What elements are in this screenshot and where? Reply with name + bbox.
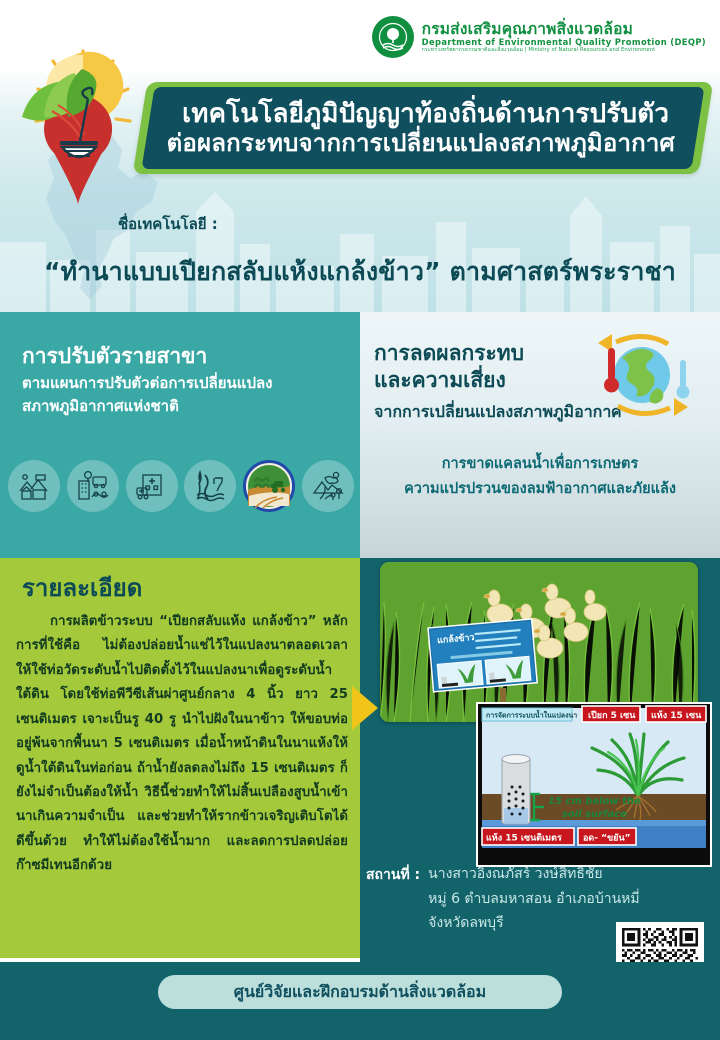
technology-name: “ทำนาแบบเปียกสลับแห้งแกล้งข้าว” ตามศาสตร… [0, 252, 720, 292]
mitigation-heading-line2: และความเสี่ยง [374, 368, 506, 392]
globe-thermometer-icon [582, 330, 702, 422]
mitigation-panel: การลดผลกระทบ และความเสี่ยง จากการเปลี่ยน… [360, 312, 720, 558]
awd-water-level-diagram: การจัดการระบบน้ำในแปลงนา เปียก 5 เซน แห้… [476, 702, 712, 867]
org-name-th: กรมส่งเสริมคุณภาพสิ่งแวดล้อม [422, 21, 706, 37]
sector-item-tourism[interactable] [65, 460, 121, 512]
place-label: สถานที่ : [366, 862, 420, 936]
lightbulb-leaf-pin-icon [8, 45, 148, 205]
sector-panel-subheading: ตามแผนการปรับตัวต่อการเปลี่ยนแปลง สภาพภู… [22, 372, 352, 419]
sector-panel-heading: การปรับตัวรายสาขา [22, 340, 207, 373]
svg-text:แห้ง 15 เซน: แห้ง 15 เซน [651, 710, 702, 721]
place-line-3: จังหวัดลพบุรี [428, 911, 639, 936]
poster-title-line2: ต่อผลกระทบจากการเปลี่ยนแปลงสภาพภูมิอากาศ [166, 129, 674, 157]
svg-text:15 cm below the: 15 cm below the [548, 796, 641, 807]
sector-item-natural-resources[interactable] [300, 460, 356, 512]
sector-item-settlement[interactable] [6, 460, 62, 512]
settlement-icon [8, 460, 60, 512]
sector-item-water[interactable] [182, 460, 238, 512]
place-value: นางสาวอิงณภัสร์ วงษ์สิทธิชัย หมู่ 6 ตำบล… [428, 862, 639, 936]
sector-sub-line2: สภาพภูมิอากาศแห่งชาติ [22, 397, 179, 415]
title-ribbon: เทคโนโลยีภูมิปัญญาท้องถิ่นด้านการปรับตัว… [133, 82, 714, 174]
detail-title: รายละเอียด [22, 568, 142, 607]
svg-text:แห้ง 15 เซนติเมตร: แห้ง 15 เซนติเมตร [486, 833, 562, 844]
detail-body: การผลิตข้าวระบบ “เปียกสลับแห้ง แกล้งข้าว… [16, 610, 348, 879]
place-line-2: หมู่ 6 ตำบลมหาสอน อำเภอบ้านหมี่ [428, 887, 639, 912]
risk-item-2: ความแปรปรวนของลมฟ้าอากาศและภัยแล้ง [360, 477, 720, 502]
sector-sub-line1: ตามแผนการปรับตัวต่อการเปลี่ยนแปลง [22, 374, 273, 392]
technology-label: ชื่อเทคโนโลยี : [118, 212, 218, 236]
health-icon [126, 460, 178, 512]
water-mgmt-icon [184, 460, 236, 512]
mitigation-heading: การลดผลกระทบ และความเสี่ยง [374, 340, 524, 395]
place-line-1: นางสาวอิงณภัสร์ วงษ์สิทธิชัย [428, 862, 639, 887]
footer-pill: ศูนย์วิจัยและฝึกอบรมด้านสิ่งแวดล้อม [158, 975, 562, 1009]
detail-section: รายละเอียด การผลิตข้าวระบบ “เปียกสลับแห้… [0, 558, 360, 958]
org-name-en: Department of Environmental Quality Prom… [422, 38, 706, 47]
sector-item-health[interactable] [124, 460, 180, 512]
rice-field-ducks-photo: แกล้งข้าว [380, 562, 698, 722]
poster-title-line1: เทคโนโลยีภูมิปัญญาท้องถิ่นด้านการปรับตัว [182, 99, 669, 130]
footer-label: ศูนย์วิจัยและฝึกอบรมด้านสิ่งแวดล้อม [234, 980, 486, 1005]
title-ribbon-inner: เทคโนโลยีภูมิปัญญาท้องถิ่นด้านการปรับตัว… [142, 87, 705, 169]
svg-text:อด- “ขยัน”: อด- “ขยัน” [583, 833, 631, 844]
sector-item-agriculture[interactable] [241, 460, 297, 512]
risk-item-1: การขาดแคลนน้ำเพื่อการเกษตร [360, 452, 720, 477]
deqp-logo: กรมส่งเสริมคุณภาพสิ่งแวดล้อม Department … [372, 16, 706, 58]
tourism-icon [67, 460, 119, 512]
natural-resources-icon [302, 460, 354, 512]
svg-text:เปียก 5 เซน: เปียก 5 เซน [588, 710, 636, 721]
sector-icon-row [6, 460, 356, 520]
mitigation-heading-line1: การลดผลกระทบ [374, 341, 524, 365]
svg-text:soil surface: soil surface [562, 809, 627, 820]
org-ministry: กระทรวงทรัพยากรธรรมชาติและสิ่งแวดล้อม | … [422, 48, 706, 53]
tree-water-seal-icon [372, 16, 414, 58]
media-section: แกล้งข้าว [360, 558, 720, 962]
header-banner: กรมส่งเสริมคุณภาพสิ่งแวดล้อม Department … [0, 0, 720, 312]
poster-root: กรมส่งเสริมคุณภาพสิ่งแวดล้อม Department … [0, 0, 720, 1040]
sector-adaptation-panel: การปรับตัวรายสาขา ตามแผนการปรับตัวต่อการ… [0, 312, 360, 558]
agriculture-icon [243, 460, 295, 512]
risk-list: การขาดแคลนน้ำเพื่อการเกษตร ความแปรปรวนขอ… [360, 452, 720, 503]
